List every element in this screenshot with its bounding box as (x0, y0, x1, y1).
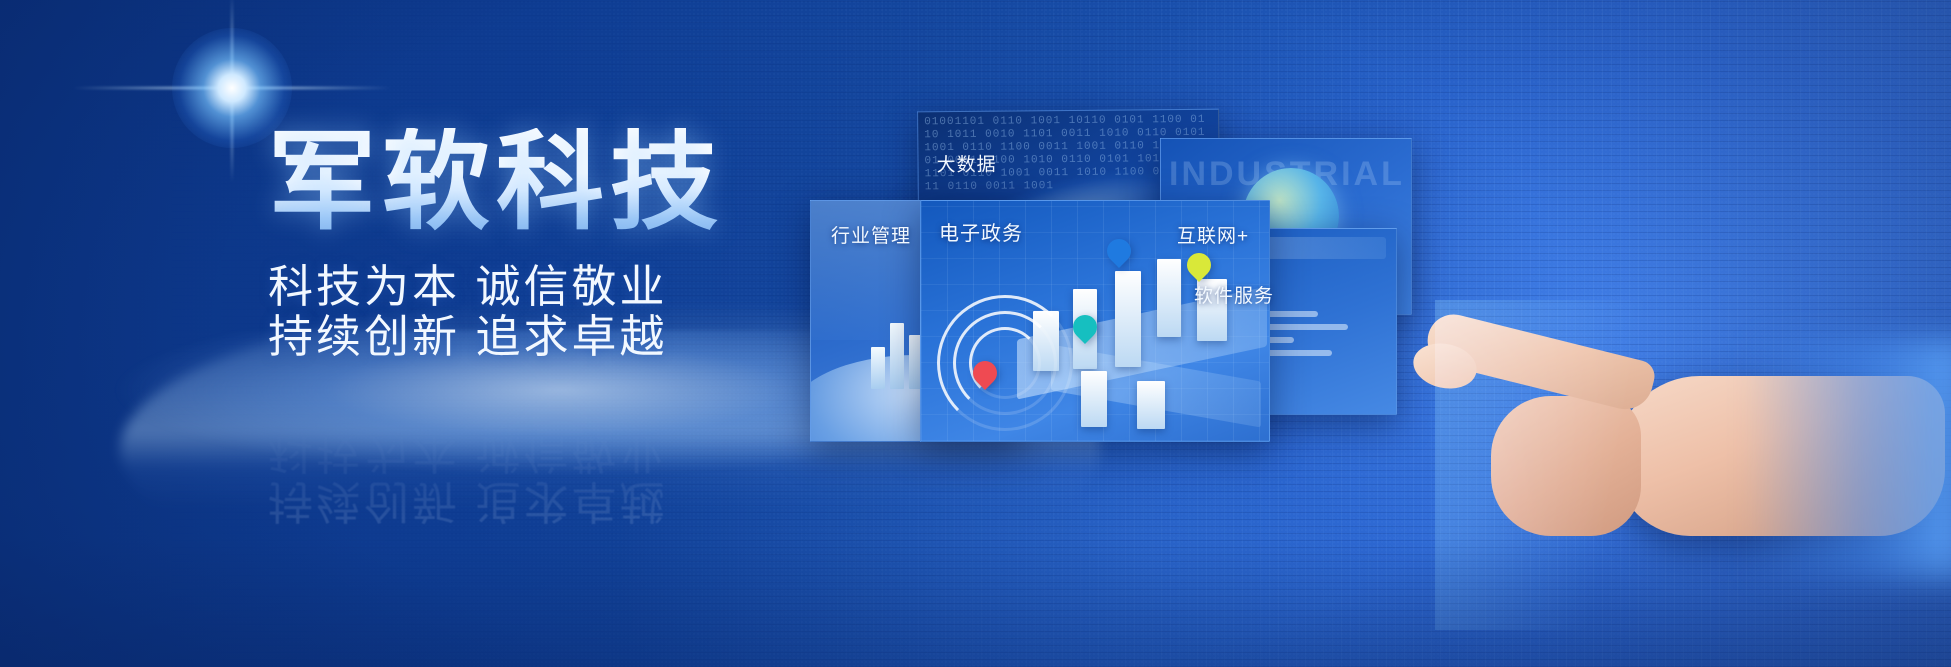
reflection-line-2: 持续创新 追求卓越 (268, 475, 1028, 525)
industry-building (890, 323, 904, 389)
isometric-building (1115, 271, 1141, 367)
isometric-building (1081, 371, 1107, 427)
industry-building (871, 347, 885, 389)
signal-ring-graphic (927, 285, 1077, 435)
card-label-software-services: 软件服务 (1194, 281, 1274, 308)
brand-title-wrap: 军软科技 (268, 128, 724, 236)
bottom-shadow-band (0, 537, 1951, 667)
brand-title: 军软科技 (268, 128, 724, 236)
card-label-big-data: 大数据 (936, 150, 996, 178)
card-label-industry-management: 行业管理 (831, 221, 911, 248)
hero-banner: 军软科技 科技为本 诚信敬业 持续创新 追求卓越 持续创新 追求卓越 科技为本 … (0, 0, 1951, 667)
card-label-internet-plus: 互联网+ (1177, 221, 1249, 248)
isometric-building (1137, 381, 1165, 429)
isometric-building (1157, 259, 1181, 337)
card-label-e-government: 电子政务 (939, 217, 1023, 246)
map-pin-icon (1182, 248, 1216, 282)
